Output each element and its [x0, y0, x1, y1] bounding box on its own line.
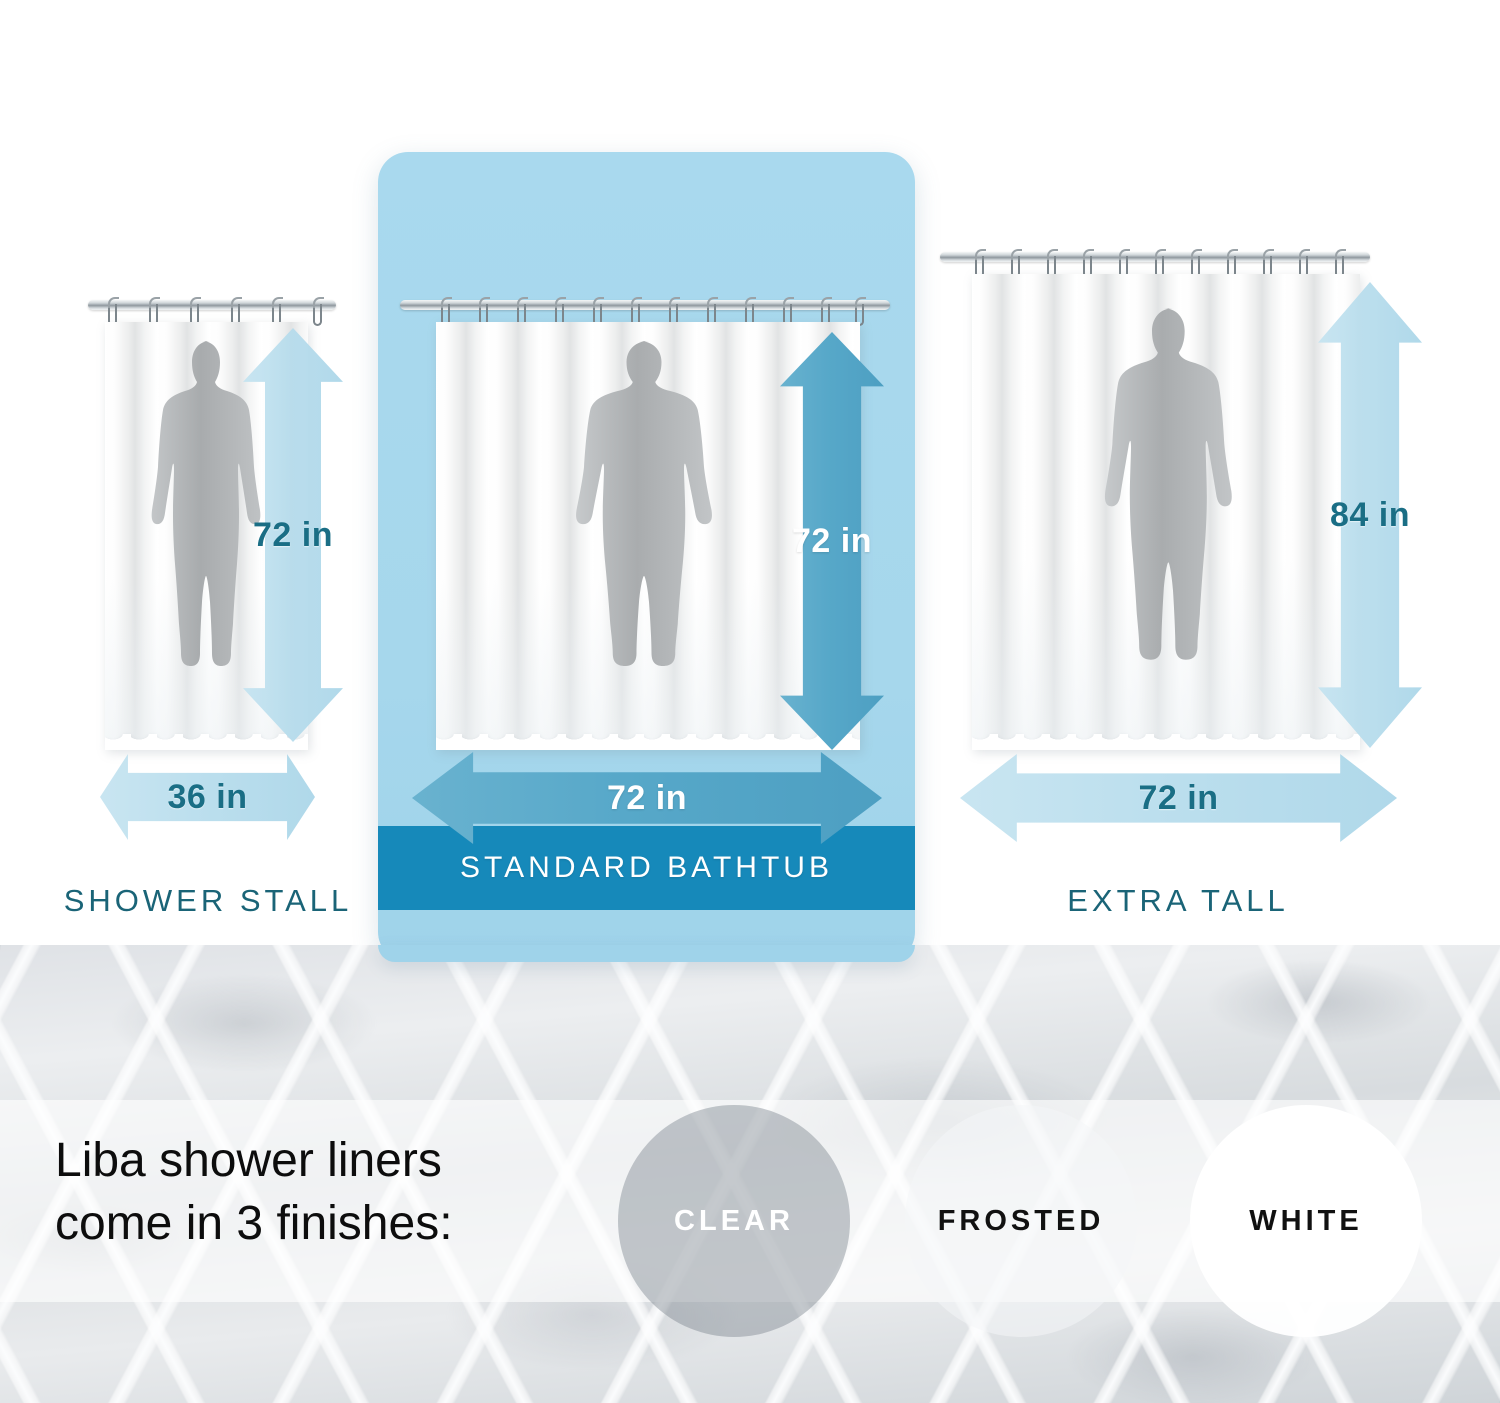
width-value-shower-stall: 36 in — [168, 778, 248, 817]
finishes-intro-line2: come in 3 finishes: — [55, 1192, 615, 1255]
infographic-page: A perfect fit in any bathroom. STANDARD … — [0, 0, 1500, 1403]
finishes-intro-line1: Liba shower liners — [55, 1129, 615, 1192]
panel-caption-standard-bathtub: STANDARD BATHTUB — [460, 851, 833, 885]
width-value-extra-tall: 72 in — [1139, 779, 1219, 818]
height-arrow-standard-bathtub: 72 in — [780, 332, 884, 750]
finish-label-white: WHITE — [1249, 1205, 1362, 1238]
human-silhouette — [574, 338, 724, 743]
height-arrow-shower-stall: 72 in — [243, 328, 343, 742]
width-arrow-standard-bathtub: 72 in — [412, 752, 882, 844]
width-arrow-extra-tall: 72 in — [960, 754, 1397, 842]
finish-swatch-clear[interactable]: CLEAR — [618, 1105, 850, 1337]
panel-caption-extra-tall: EXTRA TALL — [1010, 883, 1346, 919]
finish-label-clear: CLEAR — [674, 1205, 794, 1238]
panel-caption-shower-stall: SHOWER STALL — [40, 883, 376, 919]
height-value-extra-tall: 84 in — [1330, 496, 1410, 535]
comparison-stage: STANDARD BATHTUB — [0, 0, 1500, 945]
finish-swatch-white[interactable]: WHITE — [1190, 1105, 1422, 1337]
width-arrow-shower-stall: 36 in — [100, 754, 315, 840]
finish-swatch-frosted[interactable]: FROSTED — [905, 1105, 1137, 1337]
height-arrow-extra-tall: 84 in — [1318, 282, 1422, 748]
finish-label-frosted: FROSTED — [938, 1205, 1105, 1238]
height-value-shower-stall: 72 in — [253, 516, 333, 555]
height-value-standard-bathtub: 72 in — [792, 522, 872, 561]
finishes-intro-text: Liba shower liners come in 3 finishes: — [55, 1129, 615, 1256]
highlight-card-bottom-overlap — [378, 945, 915, 962]
width-value-standard-bathtub: 72 in — [607, 779, 687, 818]
human-silhouette — [1103, 305, 1243, 743]
